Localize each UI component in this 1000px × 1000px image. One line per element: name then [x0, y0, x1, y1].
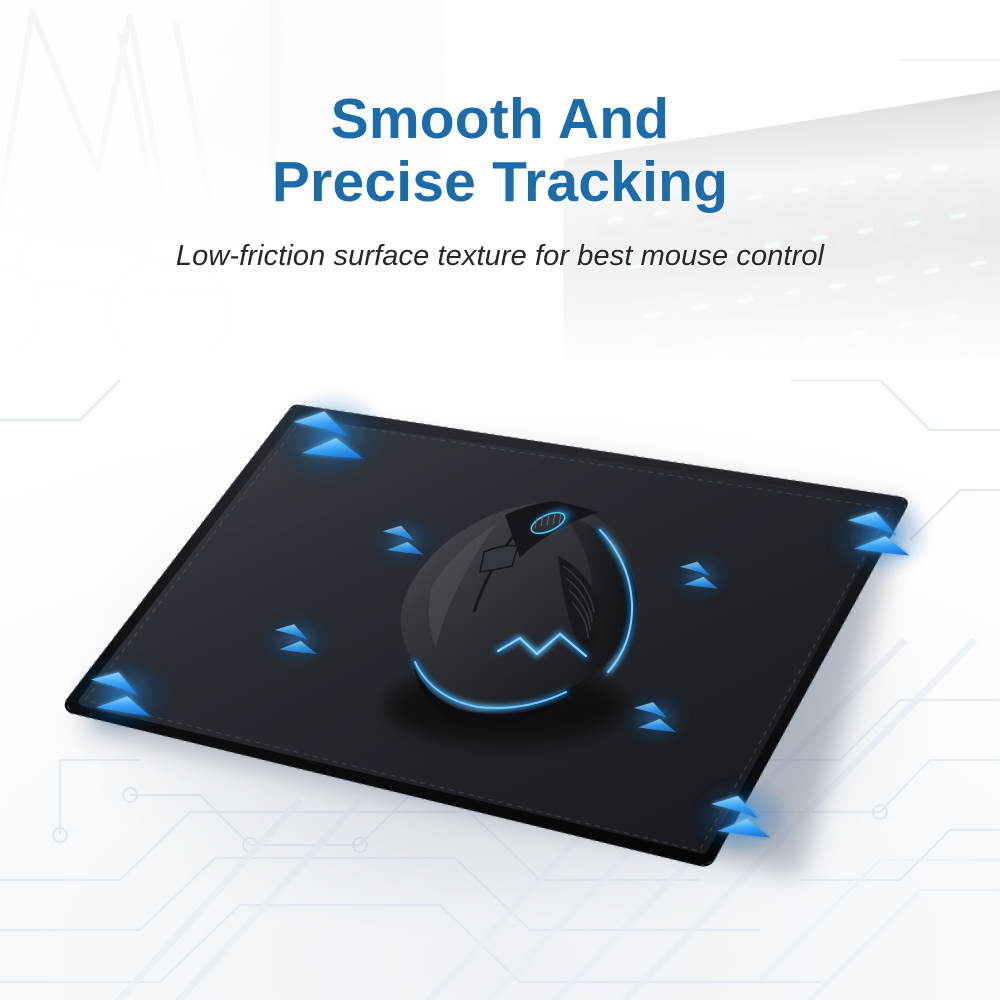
subtitle: Low-friction surface texture for best mo…	[0, 238, 1000, 274]
headline-line-1: Smooth And	[0, 88, 1000, 151]
page-title: Smooth And Precise Tracking	[0, 88, 1000, 214]
headline-line-2: Precise Tracking	[0, 151, 1000, 214]
product-banner: Smooth And Precise Tracking Low-friction…	[0, 0, 1000, 1000]
copy-block: Smooth And Precise Tracking Low-friction…	[0, 88, 1000, 274]
